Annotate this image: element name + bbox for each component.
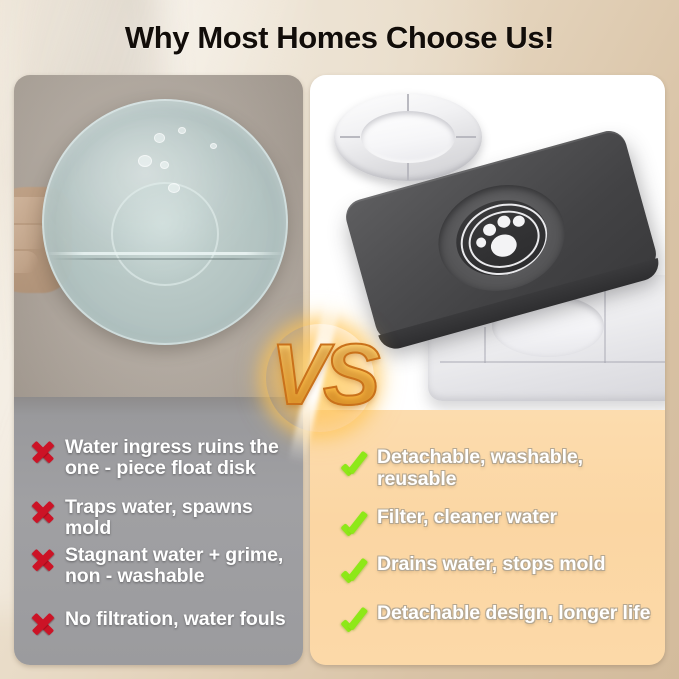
tray-edge-line [440, 361, 665, 363]
list-item-label: Detachable design, longer life [377, 602, 650, 624]
check-mark-icon [340, 602, 370, 632]
list-item: Drains water, stops mold [340, 553, 655, 583]
pros-list: Detachable, washable, reusable Filter, c… [310, 410, 665, 665]
list-item-label: No filtration, water fouls [65, 609, 286, 630]
list-item-label: Drains water, stops mold [377, 553, 605, 575]
product-photo-old-float-disk [14, 75, 303, 397]
segmented-ring-shape [334, 93, 482, 181]
pros-list-panel: Detachable, washable, reusable Filter, c… [310, 410, 665, 665]
list-item: Filter, cleaner water [340, 506, 655, 536]
check-mark-icon [340, 553, 370, 583]
check-mark-icon [340, 446, 370, 476]
comparison-column-left: Water ingress ruins the one - piece floa… [14, 75, 303, 665]
list-item-label: Filter, cleaner water [377, 506, 557, 528]
list-item-label: Traps water, spawns mold [65, 497, 295, 539]
tray-edge-line [484, 327, 486, 363]
check-mark-icon [340, 506, 370, 536]
page-title: Why Most Homes Choose Us! [0, 20, 679, 56]
x-mark-icon [28, 545, 58, 575]
list-item-label: Detachable, washable, reusable [377, 446, 655, 490]
ring-segment-gap [456, 136, 476, 138]
cons-list-panel: Water ingress ruins the one - piece floa… [14, 397, 303, 665]
infographic-canvas: Why Most Homes Choose Us! [0, 0, 679, 679]
list-item: Traps water, spawns mold [28, 497, 295, 539]
ring-segment-gap [407, 94, 409, 111]
product-photo-new-detachable-lid [310, 75, 665, 410]
x-mark-icon [28, 609, 58, 639]
ring-inner-hole [361, 111, 455, 163]
ring-segment-gap [407, 163, 409, 180]
paw-filter-icon [448, 190, 556, 286]
tray-edge-line [604, 287, 606, 363]
photo-vignette [14, 75, 303, 397]
list-item: No filtration, water fouls [28, 609, 295, 639]
x-mark-icon [28, 437, 58, 467]
list-item-label: Water ingress ruins the one - piece floa… [65, 437, 295, 479]
list-item: Detachable, washable, reusable [340, 446, 655, 490]
list-item-label: Stagnant water + grime, non - washable [65, 545, 295, 587]
cons-list: Water ingress ruins the one - piece floa… [14, 397, 303, 665]
x-mark-icon [28, 497, 58, 527]
list-item: Detachable design, longer life [340, 602, 655, 632]
ring-segment-gap [340, 136, 360, 138]
list-item: Water ingress ruins the one - piece floa… [28, 437, 295, 479]
comparison-column-right: Detachable, washable, reusable Filter, c… [310, 75, 665, 665]
list-item: Stagnant water + grime, non - washable [28, 545, 295, 587]
